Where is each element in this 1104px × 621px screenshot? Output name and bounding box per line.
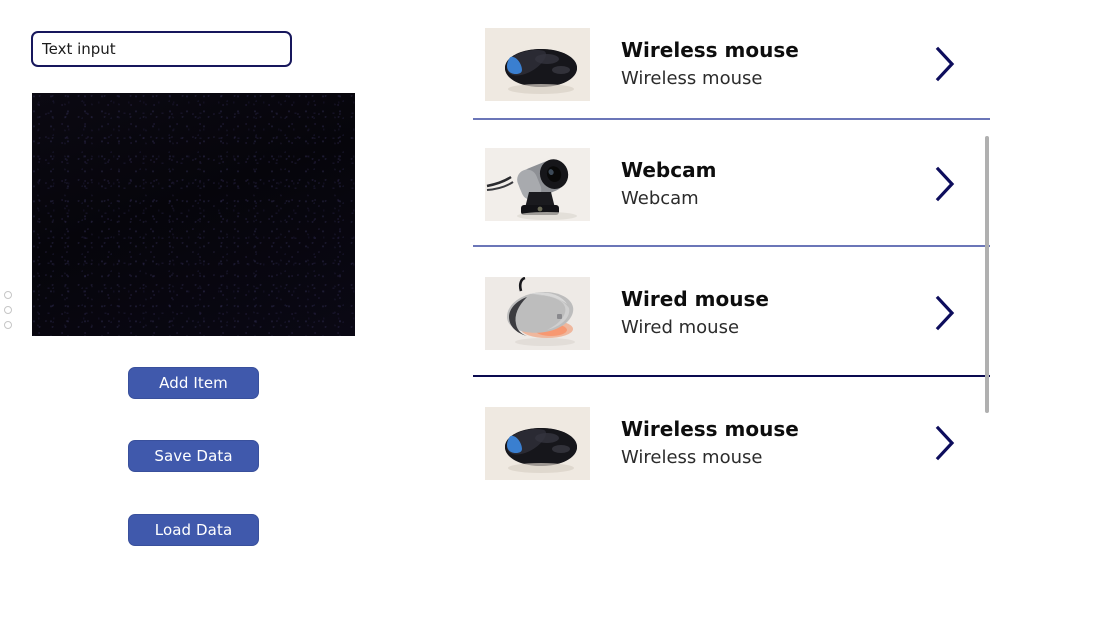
- item-title: Webcam: [621, 157, 716, 183]
- item-title: Wireless mouse: [621, 416, 799, 442]
- load-data-button[interactable]: Load Data: [128, 514, 259, 546]
- text-input[interactable]: [31, 31, 292, 67]
- item-subtitle: Wireless mouse: [621, 66, 799, 92]
- item-text-block: Wired mouse Wired mouse: [621, 286, 769, 341]
- item-title: Wired mouse: [621, 286, 769, 312]
- save-data-button[interactable]: Save Data: [128, 440, 259, 472]
- list-divider: [473, 245, 990, 247]
- item-thumbnail-image: [485, 28, 590, 101]
- list-item[interactable]: Wireless mouse Wireless mouse: [473, 10, 990, 118]
- list-divider: [473, 375, 990, 377]
- list-scrollbar[interactable]: [985, 136, 989, 413]
- list-item[interactable]: Wireless mouse Wireless mouse: [473, 389, 990, 497]
- item-list-panel: Wireless mouse Wireless mouse: [473, 0, 1104, 621]
- circle-indicator-icon-3[interactable]: [4, 321, 12, 329]
- item-text-block: Webcam Webcam: [621, 157, 716, 212]
- list-item[interactable]: Webcam Webcam: [473, 130, 990, 238]
- item-subtitle: Wired mouse: [621, 315, 769, 341]
- chevron-right-icon[interactable]: [933, 424, 957, 462]
- item-thumbnail-image: [485, 148, 590, 221]
- camera-preview: [32, 93, 355, 336]
- item-subtitle: Webcam: [621, 186, 716, 212]
- list-item[interactable]: Wired mouse Wired mouse: [473, 259, 990, 367]
- item-text-block: Wireless mouse Wireless mouse: [621, 416, 799, 471]
- circle-indicator-icon-1[interactable]: [4, 291, 12, 299]
- left-control-panel: Add Item Save Data Load Data: [0, 0, 470, 621]
- item-title: Wireless mouse: [621, 37, 799, 63]
- item-text-block: Wireless mouse Wireless mouse: [621, 37, 799, 92]
- item-thumbnail-image: [485, 407, 590, 480]
- add-item-button[interactable]: Add Item: [128, 367, 259, 399]
- chevron-right-icon[interactable]: [933, 165, 957, 203]
- item-thumbnail-image: [485, 277, 590, 350]
- item-subtitle: Wireless mouse: [621, 445, 799, 471]
- app-root: Add Item Save Data Load Data Wireles: [0, 0, 1104, 621]
- circle-indicator-icon-2[interactable]: [4, 306, 12, 314]
- chevron-right-icon[interactable]: [933, 45, 957, 83]
- chevron-right-icon[interactable]: [933, 294, 957, 332]
- list-divider: [473, 118, 990, 120]
